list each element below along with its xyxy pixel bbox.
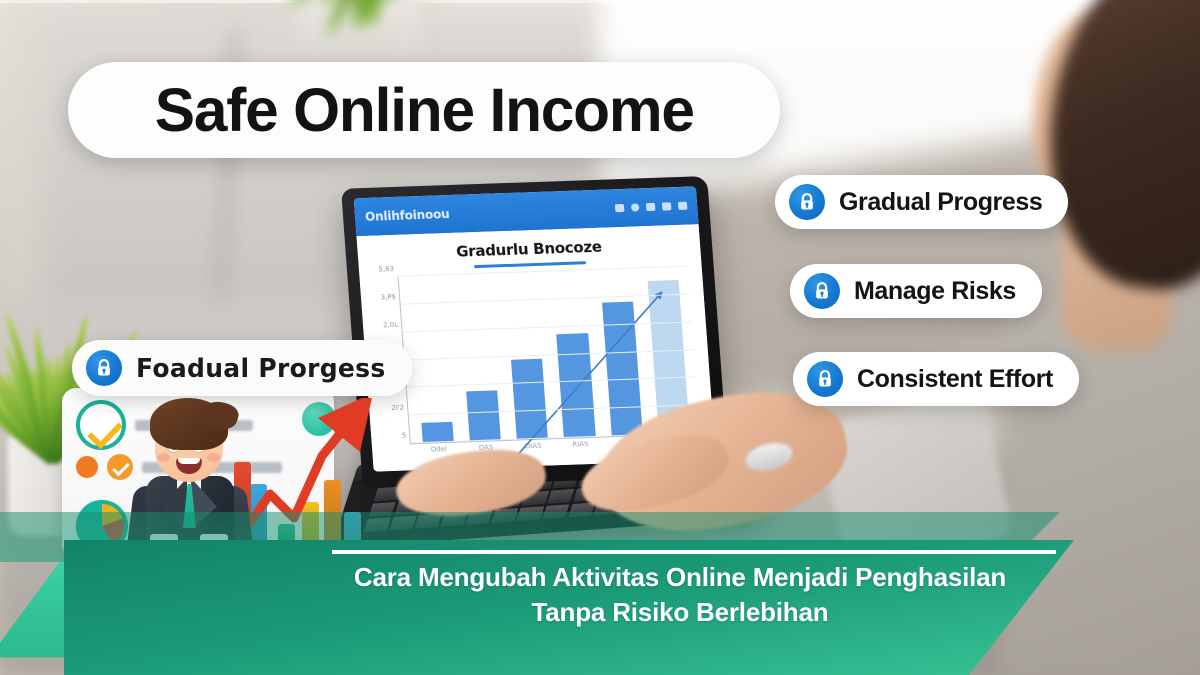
character-cheek-left (157, 453, 170, 462)
chart-y-tick: 3,P$ (380, 293, 396, 302)
chart-title: Gradurlu Bnocoze (367, 235, 690, 264)
top-edge-strip (0, 0, 1200, 3)
badge-gradual-progress[interactable]: Gradual Progress (775, 175, 1068, 229)
chart-bar (466, 390, 501, 441)
badge-consistent-effort[interactable]: Consistent Effort (793, 352, 1079, 406)
grid-icon[interactable] (662, 202, 672, 210)
check-icon[interactable] (631, 203, 640, 211)
chart-bar (557, 334, 596, 438)
lock-icon (804, 273, 840, 309)
badge-label: Consistent Effort (857, 365, 1053, 394)
chart-y-tick: 2,0L (383, 320, 399, 329)
browser-icon-group[interactable] (615, 202, 688, 212)
banner-rule (332, 550, 1056, 554)
badge-label: Manage Risks (854, 277, 1016, 306)
browser-title-text: Onlihfoinoou (365, 207, 450, 224)
badge-left-gradual-progress[interactable]: Foadual Prorgess (72, 340, 412, 396)
bookmark-icon[interactable] (646, 203, 656, 211)
banner-line-1: Cara Mengubah Aktivitas Online Menjadi P… (330, 560, 1030, 595)
chart-bar (421, 422, 454, 443)
menu-icon[interactable] (678, 202, 688, 210)
badge-label: Gradual Progress (839, 188, 1042, 217)
chart-x-tick: Odel (431, 445, 448, 454)
chart-y-tick: 5 (401, 431, 406, 439)
badge-label: Foadual Prorgess (136, 353, 386, 383)
lock-icon (86, 350, 122, 386)
page-title: Safe Online Income (154, 75, 693, 145)
chart-bar (511, 359, 548, 440)
keyboard-key[interactable] (547, 489, 574, 504)
poster-canvas: Onlihfoinoou Gradurlu Bnocoze OdelDASDIA… (0, 0, 1200, 675)
character-cheek-right (207, 453, 220, 462)
chart-x-tick: RIAS (572, 440, 589, 449)
badge-manage-risks[interactable]: Manage Risks (790, 264, 1042, 318)
banner-line-2: Tanpa Risiko Berlebihan (330, 595, 1030, 630)
page-title-pill: Safe Online Income (68, 62, 780, 158)
chart-y-tick: 5,63 (378, 265, 394, 274)
chart-y-tick: 2I'2 (391, 404, 404, 412)
chart-x-tick: DIAS (525, 442, 542, 451)
chart-title-underline (474, 261, 586, 268)
banner-caption: Cara Mengubah Aktivitas Online Menjadi P… (330, 560, 1030, 630)
lock-icon (789, 184, 825, 220)
lock-icon (807, 361, 843, 397)
plant-top-blades (268, 0, 468, 58)
orange-dot-icon (76, 456, 98, 478)
minus-icon[interactable] (615, 204, 625, 212)
clock-check-icon (76, 400, 126, 450)
